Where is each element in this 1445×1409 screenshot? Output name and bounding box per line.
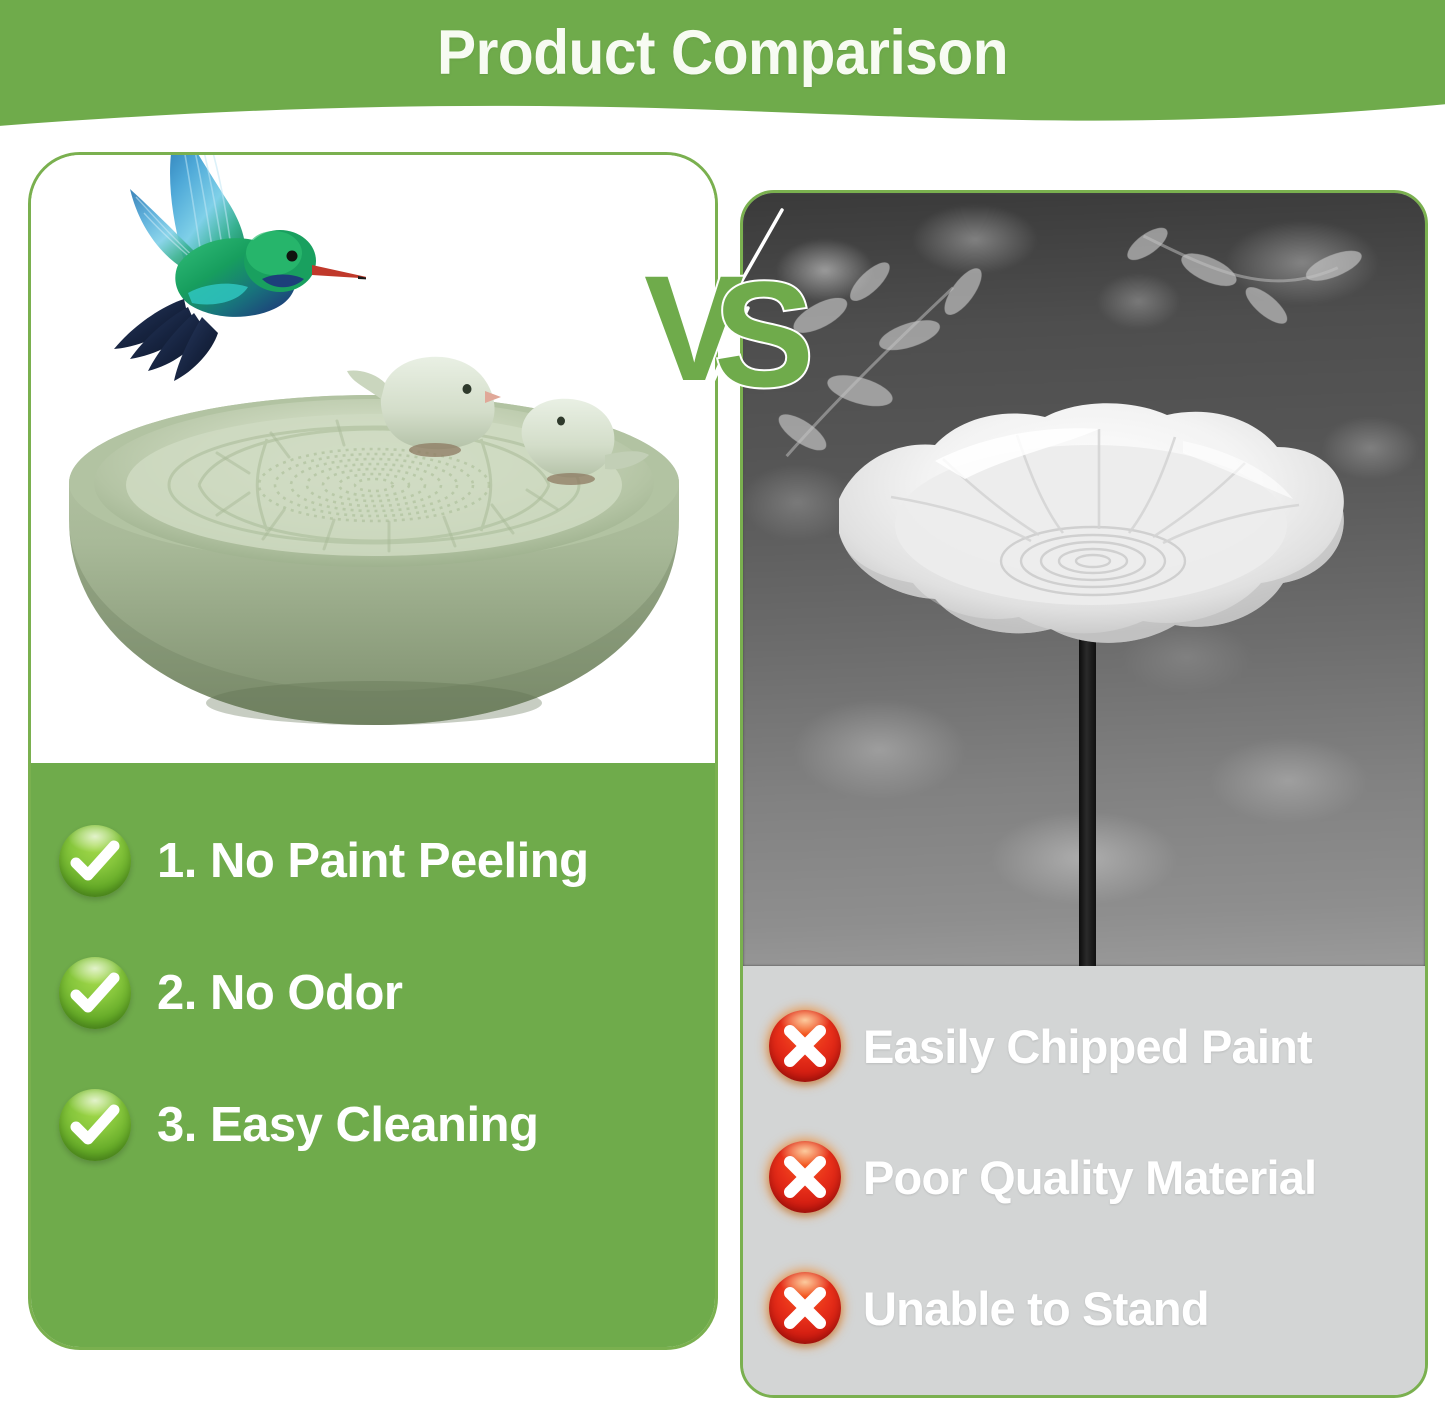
list-item-label: 2. No Odor	[157, 965, 402, 1021]
advantages-list: 1. No Paint Peeling 2. No Odor 3. Easy C…	[31, 763, 715, 1350]
x-circle-icon	[769, 1141, 841, 1213]
list-item-label: Unable to Stand	[863, 1281, 1209, 1336]
list-item-label: 1. No Paint Peeling	[157, 833, 589, 889]
page-title: Product Comparison	[51, 17, 1395, 89]
list-item: 1. No Paint Peeling	[59, 825, 589, 897]
x-circle-icon	[769, 1272, 841, 1344]
header-banner: Product Comparison	[0, 0, 1445, 140]
glass-birdbath-dish	[831, 401, 1351, 656]
check-circle-icon	[59, 825, 131, 897]
list-item: Easily Chipped Paint	[769, 1010, 1312, 1082]
list-item-label: 3. Easy Cleaning	[157, 1097, 538, 1153]
left-product-panel: 1. No Paint Peeling 2. No Odor 3. Easy C…	[28, 152, 718, 1350]
birdbath-stake	[1079, 638, 1096, 966]
list-item: 2. No Odor	[59, 957, 402, 1029]
check-circle-icon	[59, 957, 131, 1029]
glass-birdbath-photo	[743, 193, 1425, 966]
vs-letter-s: S	[714, 250, 814, 418]
ceramic-birdbath-photo	[31, 155, 715, 763]
list-item: Unable to Stand	[769, 1272, 1209, 1344]
drawbacks-list: Easily Chipped Paint Poor Quality Materi…	[743, 966, 1425, 1398]
vs-badge: V S	[636, 208, 826, 438]
list-item-label: Poor Quality Material	[863, 1150, 1316, 1205]
hummingbird-overlay	[66, 155, 366, 433]
x-circle-icon	[769, 1010, 841, 1082]
check-circle-icon	[59, 1089, 131, 1161]
list-item: Poor Quality Material	[769, 1141, 1316, 1213]
list-item-label: Easily Chipped Paint	[863, 1019, 1312, 1074]
list-item: 3. Easy Cleaning	[59, 1089, 538, 1161]
right-product-panel: Easily Chipped Paint Poor Quality Materi…	[740, 190, 1428, 1398]
